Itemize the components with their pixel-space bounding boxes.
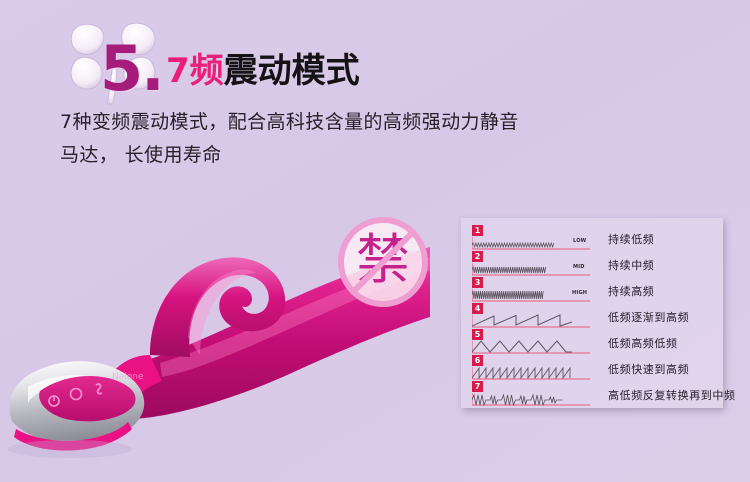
waveform-mixed-burst	[472, 392, 590, 406]
promo-page: 5. 7频震动模式 7种变频震动模式，配合高科技含量的高频强动力静音 马达， 长…	[0, 0, 750, 482]
mode-badge: 3	[472, 277, 483, 288]
mode-badge: 2	[472, 251, 483, 262]
mode-badge: 6	[472, 355, 483, 366]
vibration-mode-list: 1 LOW 持续低频 2 MID 持续中频	[472, 225, 717, 407]
mode-row: 4 低频逐渐到高频	[472, 303, 717, 329]
mode-badge: 1	[472, 225, 483, 236]
mode-row: 2 MID 持续中频	[472, 251, 717, 277]
body-copy: 7种变频震动模式，配合高科技含量的高频强动力静音 马达， 长使用寿命	[60, 106, 600, 171]
product-shadow	[8, 440, 132, 458]
mode-label: 持续低频	[608, 231, 654, 247]
mode-row: 5 低频高频低频	[472, 329, 717, 355]
mode-row: 3 HIGH 持续高频	[472, 277, 717, 303]
page-title-highlight: 7频	[166, 51, 224, 91]
mode-level: HIGH	[572, 290, 587, 296]
vibration-mode-panel: 1 LOW 持续低频 2 MID 持续中频	[461, 218, 723, 408]
mode-label: 高低频反复转换再到中频	[608, 387, 736, 403]
body-copy-line-1: 7种变频震动模式，配合高科技含量的高频强动力静音	[60, 106, 600, 139]
mode-level: MID	[573, 264, 585, 270]
mode-row: 6 低频快速到高频	[472, 355, 717, 381]
mode-row: 7 高低频反复转换再到中频	[472, 381, 717, 407]
page-title-rest: 震动模式	[224, 51, 360, 91]
mode-badge: 5	[472, 329, 483, 340]
step-number: 5.	[100, 38, 163, 100]
mode-label: 持续高频	[608, 283, 654, 299]
mode-badge: 7	[472, 381, 483, 392]
product-brand-mark: Nalone	[112, 372, 144, 382]
page-title: 7频震动模式	[166, 52, 360, 91]
mode-label: 低频逐渐到高频	[608, 309, 689, 325]
mode-badge: 4	[472, 303, 483, 314]
mode-row: 1 LOW 持续低频	[472, 225, 717, 251]
waveform-dense-sawtooth	[472, 366, 590, 380]
mode-label: 低频高频低频	[608, 335, 678, 351]
mode-label: 低频快速到高频	[608, 361, 689, 377]
mode-label: 持续中频	[608, 257, 654, 273]
body-copy-line-2: 马达， 长使用寿命	[60, 139, 600, 172]
prohibited-stamp-icon: 禁	[337, 216, 429, 308]
mode-level: LOW	[573, 238, 586, 244]
waveform-sawtooth-ramp	[472, 314, 590, 328]
waveform-triangle-peaks	[472, 340, 590, 354]
